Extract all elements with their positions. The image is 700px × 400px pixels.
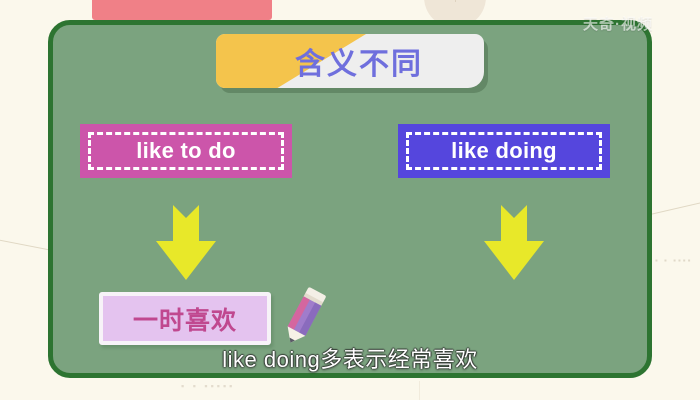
subtitle-caption: like doing多表示经常喜欢 [0,342,700,374]
decor-circle-line [455,0,456,2]
decor-faint-text-right: ▪ ▪ ▪▪▪▪ [655,256,692,265]
decor-faint-text-bottom: ▪ ▪ ▪▪▪▪▪ [181,381,235,391]
decor-vertical-line-bottom [419,381,420,400]
term-chip-label: like to do [136,138,236,164]
decor-diagonal-line-right [650,187,700,215]
pencil-icon [275,286,333,348]
term-chip-like-doing: like doing [398,124,610,178]
result-label: 一时喜欢 [133,301,237,337]
result-box-left: 一时喜欢 [99,292,271,345]
arrow-down-icon [483,199,545,283]
decor-pink-block [92,0,272,20]
page-title: 含义不同 [216,34,484,88]
video-frame: ▪ ▪ ▪▪▪▪ ▪ ▪ ▪▪▪▪▪ 天奇·视频 含义不同 like to do… [0,0,700,400]
arrow-down-icon [155,199,217,283]
title-banner: 含义不同 [216,34,484,88]
term-chip-label: like doing [451,138,557,164]
watermark-label: 天奇·视频 [583,13,653,34]
term-chip-like-to-do: like to do [80,124,292,178]
